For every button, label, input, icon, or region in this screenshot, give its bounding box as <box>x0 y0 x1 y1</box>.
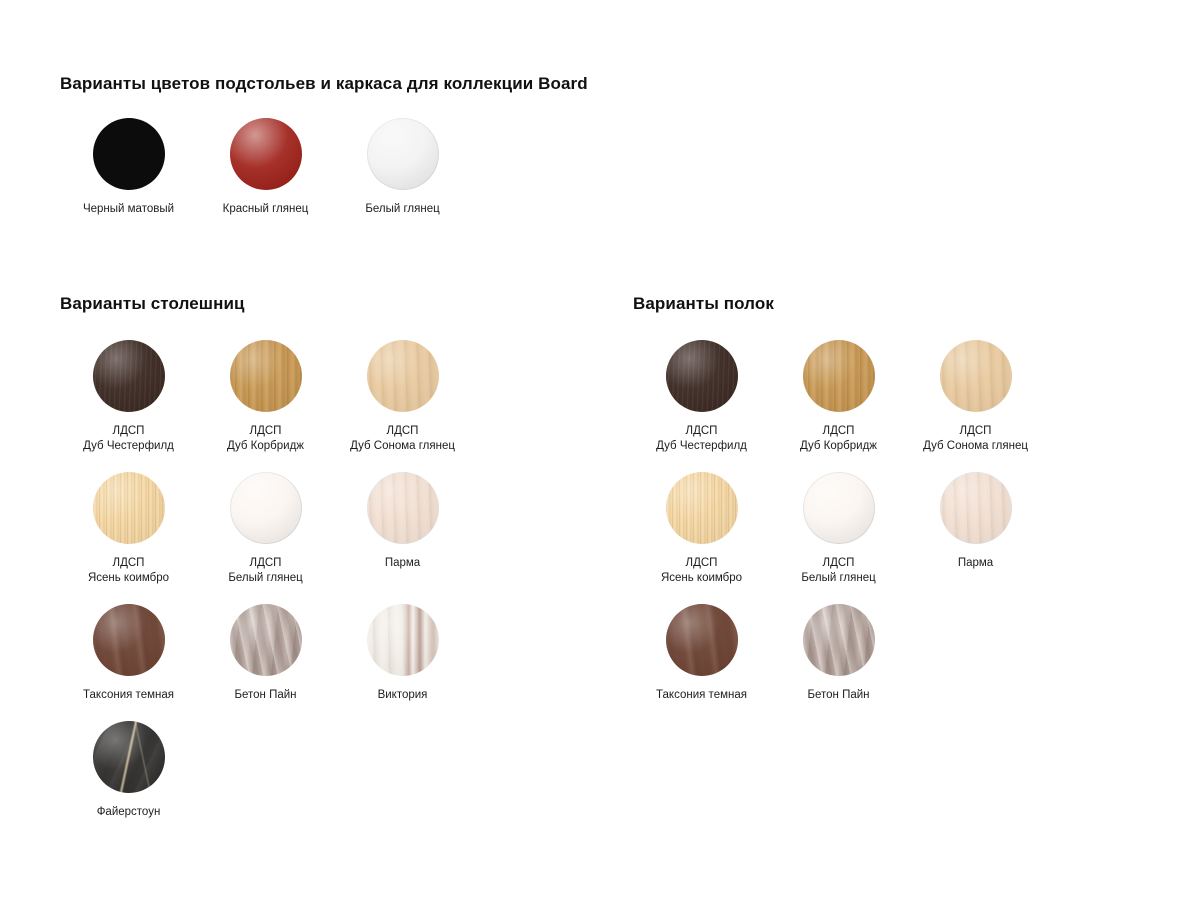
swatch-disc[interactable] <box>803 604 875 676</box>
swatch-gloss-overlay <box>230 340 302 412</box>
section-shelves-title: Варианты полок <box>633 294 774 314</box>
swatch-disc[interactable] <box>367 118 439 190</box>
swatch-gloss-overlay <box>93 604 165 676</box>
swatch-label-line1: ЛДСП <box>250 425 282 437</box>
swatch-gloss-overlay <box>803 340 875 412</box>
section-shelves: Варианты полок <box>633 294 774 314</box>
swatch-label-line2: Дуб Честерфилд <box>83 439 174 454</box>
swatch-cell[interactable]: Бетон Пайн <box>197 604 334 703</box>
swatch-label-line1: Красный глянец <box>223 203 309 215</box>
swatch-disc[interactable] <box>93 340 165 412</box>
swatch-label-line1: ЛДСП <box>113 425 145 437</box>
swatch-label-line2: Ясень коимбро <box>661 571 742 586</box>
swatch-label: ЛДСПБелый глянец <box>228 556 302 586</box>
swatch-disc[interactable] <box>230 604 302 676</box>
swatch-label: Белый глянец <box>365 202 439 217</box>
swatch-label: Таксония темная <box>83 688 174 703</box>
swatch-grid-frames: Черный матовыйКрасный глянецБелый глянец <box>60 118 490 235</box>
swatch-label: Бетон Пайн <box>234 688 296 703</box>
swatch-label-line1: Белый глянец <box>365 203 439 215</box>
swatch-disc[interactable] <box>666 340 738 412</box>
swatch-label: Бетон Пайн <box>807 688 869 703</box>
swatch-label-line1: Таксония темная <box>83 689 174 701</box>
swatch-label: ЛДСПЯсень коимбро <box>661 556 742 586</box>
swatch-cell[interactable]: ЛДСПЯсень коимбро <box>633 472 770 586</box>
swatch-gloss-overlay <box>93 472 165 544</box>
swatch-gloss-overlay <box>940 340 1012 412</box>
swatch-disc[interactable] <box>367 472 439 544</box>
swatch-disc[interactable] <box>93 118 165 190</box>
swatch-cell[interactable]: Таксония темная <box>633 604 770 703</box>
swatch-grid-tabletops: ЛДСПДуб ЧестерфилдЛДСПДуб КорбриджЛДСПДу… <box>60 340 490 838</box>
swatch-gloss-overlay <box>940 472 1012 544</box>
swatch-label-line2: Белый глянец <box>801 571 875 586</box>
swatch-cell[interactable]: Бетон Пайн <box>770 604 907 703</box>
swatch-label-line1: Парма <box>958 557 993 569</box>
swatch-cell[interactable]: Парма <box>907 472 1044 586</box>
swatch-cell[interactable]: ЛДСПДуб Честерфилд <box>633 340 770 454</box>
swatch-cell[interactable]: Файерстоун <box>60 721 197 820</box>
section-frames-title: Варианты цветов подстольев и каркаса для… <box>60 74 588 94</box>
swatch-disc[interactable] <box>940 472 1012 544</box>
swatch-disc[interactable] <box>230 340 302 412</box>
swatch-gloss-overlay <box>367 472 439 544</box>
swatch-label-line1: ЛДСП <box>250 557 282 569</box>
swatch-cell[interactable]: ЛДСПБелый глянец <box>770 472 907 586</box>
swatch-cell[interactable]: ЛДСПДуб Честерфилд <box>60 340 197 454</box>
swatch-cell[interactable]: ЛДСПДуб Сонома глянец <box>334 340 471 454</box>
swatch-label-line1: ЛДСП <box>823 557 855 569</box>
swatch-disc[interactable] <box>93 721 165 793</box>
swatch-gloss-overlay <box>666 472 738 544</box>
swatch-cell[interactable]: ЛДСПЯсень коимбро <box>60 472 197 586</box>
swatch-label-line2: Дуб Сонома глянец <box>923 439 1028 454</box>
swatch-label-line1: ЛДСП <box>960 425 992 437</box>
swatch-label: ЛДСПДуб Сонома глянец <box>350 424 455 454</box>
swatch-label-line1: Виктория <box>378 689 428 701</box>
section-tabletops-title: Варианты столешниц <box>60 294 245 314</box>
swatch-cell[interactable]: Таксония темная <box>60 604 197 703</box>
swatch-disc[interactable] <box>230 472 302 544</box>
swatch-cell[interactable]: ЛДСПДуб Корбридж <box>197 340 334 454</box>
swatch-label: Файерстоун <box>97 805 161 820</box>
swatch-label-line2: Дуб Честерфилд <box>656 439 747 454</box>
swatch-gloss-overlay <box>367 340 439 412</box>
swatch-cell[interactable]: Парма <box>334 472 471 586</box>
swatch-gloss-overlay <box>367 604 439 676</box>
swatch-label: ЛДСПБелый глянец <box>801 556 875 586</box>
swatch-gloss-overlay <box>666 340 738 412</box>
swatch-gloss-overlay <box>230 118 302 190</box>
swatch-label: Парма <box>958 556 993 571</box>
swatch-label-line2: Дуб Корбридж <box>227 439 304 454</box>
swatch-label: Парма <box>385 556 420 571</box>
section-frames: Варианты цветов подстольев и каркаса для… <box>60 74 588 94</box>
swatch-cell[interactable]: Белый глянец <box>334 118 471 217</box>
swatch-disc[interactable] <box>367 340 439 412</box>
swatch-grid-shelves: ЛДСПДуб ЧестерфилдЛДСПДуб КорбриджЛДСПДу… <box>633 340 1053 721</box>
swatch-disc[interactable] <box>803 340 875 412</box>
swatch-label-line1: Черный матовый <box>83 203 174 215</box>
swatch-cell[interactable]: ЛДСПБелый глянец <box>197 472 334 586</box>
swatch-label-line1: ЛДСП <box>387 425 419 437</box>
swatch-disc[interactable] <box>93 472 165 544</box>
swatch-label-line2: Белый глянец <box>228 571 302 586</box>
swatch-label: ЛДСПДуб Сонома глянец <box>923 424 1028 454</box>
color-options-page: Варианты цветов подстольев и каркаса для… <box>0 0 1200 900</box>
swatch-cell[interactable]: ЛДСПДуб Сонома глянец <box>907 340 1044 454</box>
swatch-label: ЛДСПДуб Корбридж <box>227 424 304 454</box>
swatch-gloss-overlay <box>803 604 875 676</box>
swatch-disc[interactable] <box>93 604 165 676</box>
swatch-gloss-overlay <box>93 340 165 412</box>
swatch-cell[interactable]: Красный глянец <box>197 118 334 217</box>
swatch-label: ЛДСПЯсень коимбро <box>88 556 169 586</box>
swatch-label: Черный матовый <box>83 202 174 217</box>
swatch-label: ЛДСПДуб Честерфилд <box>656 424 747 454</box>
swatch-label-line2: Дуб Корбридж <box>800 439 877 454</box>
swatch-label-line1: ЛДСП <box>113 557 145 569</box>
swatch-gloss-overlay <box>230 472 302 544</box>
swatch-label-line1: ЛДСП <box>823 425 855 437</box>
swatch-gloss-overlay <box>803 472 875 544</box>
section-tabletops: Варианты столешниц <box>60 294 245 314</box>
swatch-label-line2: Дуб Сонома глянец <box>350 439 455 454</box>
swatch-label-line2: Ясень коимбро <box>88 571 169 586</box>
swatch-gloss-overlay <box>367 118 439 190</box>
swatch-label-line1: ЛДСП <box>686 425 718 437</box>
swatch-label-line1: Таксония темная <box>656 689 747 701</box>
swatch-label-line1: Файерстоун <box>97 806 161 818</box>
swatch-disc[interactable] <box>803 472 875 544</box>
swatch-disc[interactable] <box>230 118 302 190</box>
swatch-cell[interactable]: Черный матовый <box>60 118 197 217</box>
swatch-cell[interactable]: Виктория <box>334 604 471 703</box>
swatch-label: Виктория <box>378 688 428 703</box>
swatch-label: Таксония темная <box>656 688 747 703</box>
swatch-label-line1: Бетон Пайн <box>807 689 869 701</box>
swatch-label: Красный глянец <box>223 202 309 217</box>
swatch-cell[interactable]: ЛДСПДуб Корбридж <box>770 340 907 454</box>
swatch-disc[interactable] <box>666 604 738 676</box>
swatch-gloss-overlay <box>230 604 302 676</box>
swatch-label-line1: Бетон Пайн <box>234 689 296 701</box>
swatch-disc[interactable] <box>367 604 439 676</box>
swatch-gloss-overlay <box>666 604 738 676</box>
swatch-label-line1: Парма <box>385 557 420 569</box>
swatch-disc[interactable] <box>666 472 738 544</box>
swatch-label-line1: ЛДСП <box>686 557 718 569</box>
swatch-label: ЛДСПДуб Корбридж <box>800 424 877 454</box>
swatch-gloss-overlay <box>93 721 165 793</box>
swatch-label: ЛДСПДуб Честерфилд <box>83 424 174 454</box>
swatch-disc[interactable] <box>940 340 1012 412</box>
